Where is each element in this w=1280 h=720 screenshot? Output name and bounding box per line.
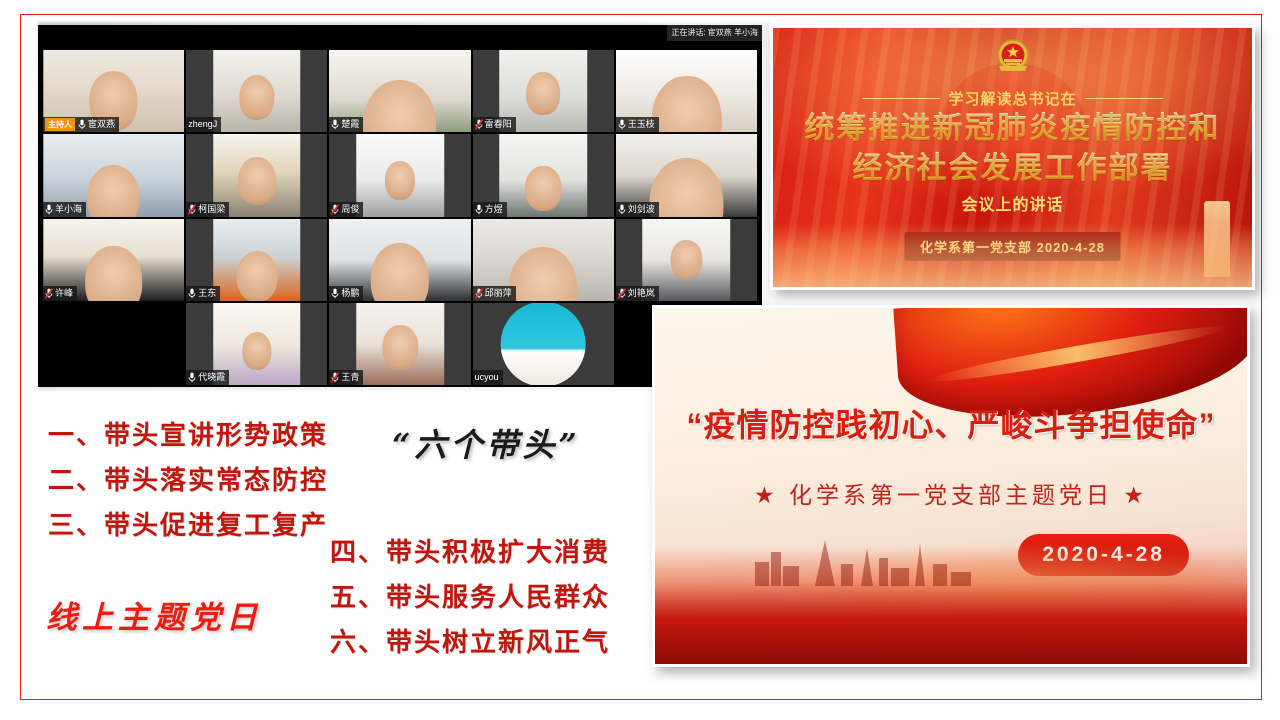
participant-name: 代晓霞 [198, 371, 225, 384]
participant-tile[interactable]: ucyou [473, 303, 614, 385]
face-region [239, 75, 275, 120]
participant-name: 周俊 [341, 203, 359, 216]
mic-off-icon [45, 288, 53, 299]
empty-tile [43, 303, 184, 385]
participant-name: 柯国梁 [198, 203, 225, 216]
participant-tile[interactable]: 刘剑波 [616, 134, 757, 216]
banner-top-line3: 经济社会发展工作部署 [773, 149, 1252, 189]
participant-tile[interactable]: 刘艳岚 [616, 219, 757, 301]
participant-tile[interactable]: 杨鹏 [329, 219, 470, 301]
participant-name: 王玉枝 [628, 118, 655, 131]
participant-name-bar: 王东 [186, 286, 220, 301]
face-region [526, 72, 560, 115]
mic-on-icon [78, 119, 86, 130]
participant-name-bar: 王青 [329, 370, 363, 385]
participant-name: 刘剑波 [628, 203, 655, 216]
banner-top-line2: 统筹推进新冠肺炎疫情防控和 [773, 109, 1252, 149]
banner-bottom-title: “疫情防控践初心、严峻斗争担使命” [655, 400, 1247, 446]
face-region [671, 240, 703, 279]
headline-online-party-day: 线上主题党日 [46, 592, 262, 637]
participant-name: 许峰 [55, 287, 73, 300]
mic-off-icon [475, 119, 483, 130]
mic-off-icon [618, 288, 626, 299]
participant-name: zhengJ [188, 118, 217, 131]
participant-name-bar: 羊小海 [43, 202, 86, 217]
rule-left [862, 98, 940, 99]
skyline-silhouette-icon [745, 534, 1045, 586]
headline-six-leads: “六个带头” [392, 420, 581, 466]
banner-top-line4: 会议上的讲话 [773, 191, 1252, 215]
participant-name-bar: 楚霞 [329, 117, 363, 132]
national-emblem-icon [991, 36, 1035, 82]
face-region [649, 158, 724, 216]
participant-tile[interactable]: 柯国梁 [186, 134, 327, 216]
mic-on-icon [618, 204, 626, 215]
participant-name-bar: ucyou [473, 370, 503, 385]
mic-off-icon [188, 204, 196, 215]
participant-name: 宦双燕 [88, 118, 115, 131]
host-badge: 主持人 [45, 118, 75, 131]
participant-name-bar: 王玉枝 [616, 117, 659, 132]
face-region [87, 165, 139, 217]
pillar-decor [1204, 201, 1230, 277]
participant-tile[interactable]: 王东 [186, 219, 327, 301]
participant-name-bar: 许峰 [43, 286, 77, 301]
video-frame [356, 134, 444, 216]
participant-tile[interactable]: 楚霞 [329, 50, 470, 132]
participant-name: 邱丽萍 [485, 287, 512, 300]
point-item: 三、带头促进复工复产 [48, 503, 328, 548]
face-region [509, 247, 578, 300]
mic-on-icon [188, 372, 196, 383]
point-item: 二、带头落实常态防控 [48, 458, 328, 503]
participant-name: 刘艳岚 [628, 287, 655, 300]
participant-tile[interactable]: 王青 [329, 303, 470, 385]
point-item: 六、带头树立新风正气 [330, 620, 610, 665]
participant-name-bar: 代晓霞 [186, 370, 229, 385]
face-region [525, 166, 562, 212]
participant-name-bar: 刘艳岚 [616, 286, 659, 301]
point-item: 五、带头服务人民群众 [330, 575, 610, 620]
face-region [385, 161, 416, 199]
participant-name: 雷春阳 [485, 118, 512, 131]
participant-tile[interactable]: 许峰 [43, 219, 184, 301]
participant-name: 王东 [198, 287, 216, 300]
mic-on-icon [618, 119, 626, 130]
mic-off-icon [331, 204, 339, 215]
participant-name-bar: 柯国梁 [186, 202, 229, 217]
participant-tile[interactable]: 主持人宦双燕 [43, 50, 184, 132]
participant-name-bar: 主持人宦双燕 [43, 117, 119, 132]
participant-grid: 主持人宦双燕zhengJ楚霞雷春阳王玉枝羊小海柯国梁周俊方煜刘剑波许峰王东杨鹏邱… [43, 50, 757, 385]
face-region [242, 332, 272, 369]
mic-on-icon [331, 288, 339, 299]
participant-name-bar: zhengJ [186, 117, 221, 132]
participant-tile[interactable]: 方煜 [473, 134, 614, 216]
mic-on-icon [475, 204, 483, 215]
participant-tile[interactable]: 代晓霞 [186, 303, 327, 385]
participant-name: 杨鹏 [341, 287, 359, 300]
city-skyline-decor [773, 223, 1252, 287]
speaking-indicator: 正在讲话: 宦双燕 羊小海 [667, 25, 762, 41]
face-region [651, 76, 721, 132]
participant-name: 方煜 [485, 203, 503, 216]
participant-name-bar: 雷春阳 [473, 117, 516, 132]
face-region [363, 80, 436, 133]
participant-name: 楚霞 [341, 118, 359, 131]
video-frame [499, 134, 587, 216]
participant-tile[interactable]: 邱丽萍 [473, 219, 614, 301]
video-frame [356, 303, 444, 385]
participant-name-bar: 刘剑波 [616, 202, 659, 217]
participant-name-bar: 方煜 [473, 202, 507, 217]
face-region [371, 243, 429, 301]
video-frame [213, 50, 301, 132]
participant-name: ucyou [475, 371, 499, 384]
mic-off-icon [475, 288, 483, 299]
banner-speech-poster: 学习解读总书记在 统筹推进新冠肺炎疫情防控和 经济社会发展工作部署 会议上的讲话… [770, 25, 1255, 290]
face-region [382, 325, 418, 370]
banner-bottom-subtitle: ★ 化学系第一党支部主题党日 ★ [655, 476, 1247, 510]
participant-name-bar: 杨鹏 [329, 286, 363, 301]
mic-on-icon [188, 288, 196, 299]
mic-off-icon [331, 372, 339, 383]
rule-right [1085, 98, 1163, 99]
participant-name: 羊小海 [55, 203, 82, 216]
mic-on-icon [45, 204, 53, 215]
participant-name-bar: 邱丽萍 [473, 286, 516, 301]
banner-top-line1: 学习解读总书记在 [773, 88, 1252, 109]
participant-tile[interactable]: 王玉枝 [616, 50, 757, 132]
points-left-block: 一、带头宣讲形势政策 二、带头落实常态防控 三、带头促进复工复产 [48, 413, 328, 548]
points-right-block: 四、带头积极扩大消费 五、带头服务人民群众 六、带头树立新风正气 [330, 530, 610, 665]
point-item: 四、带头积极扩大消费 [330, 530, 610, 575]
face-region [236, 251, 277, 301]
face-region [238, 157, 277, 205]
banner-theme-party-day: “疫情防控践初心、严峻斗争担使命” ★ 化学系第一党支部主题党日 ★ 2020-… [652, 305, 1250, 667]
participant-name: 王青 [341, 371, 359, 384]
participant-name-bar: 周俊 [329, 202, 363, 217]
participant-tile[interactable]: 雷春阳 [473, 50, 614, 132]
point-item: 一、带头宣讲形势政策 [48, 413, 328, 458]
mic-on-icon [331, 119, 339, 130]
face-region [85, 246, 141, 300]
video-frame [213, 219, 301, 301]
participant-tile[interactable]: 周俊 [329, 134, 470, 216]
slide-canvas: 正在讲话: 宦双燕 羊小海 主持人宦双燕zhengJ楚霞雷春阳王玉枝羊小海柯国梁… [0, 0, 1280, 720]
participant-tile[interactable]: zhengJ [186, 50, 327, 132]
avatar [501, 303, 586, 385]
participant-tile[interactable]: 羊小海 [43, 134, 184, 216]
